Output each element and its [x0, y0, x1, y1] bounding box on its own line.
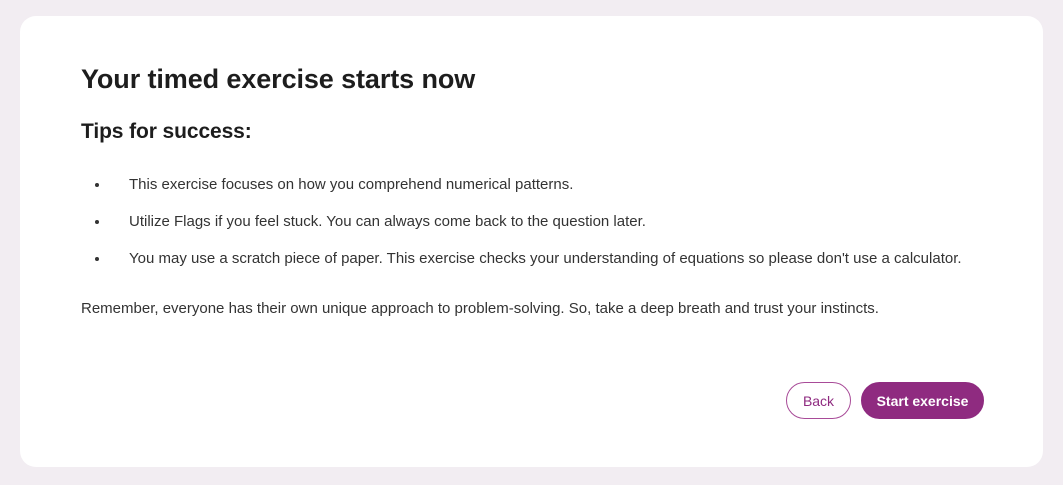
list-item-label: Utilize Flags if you feel stuck. You can… [129, 213, 646, 230]
list-item: Utilize Flags if you feel stuck. You can… [81, 211, 995, 233]
start-exercise-button[interactable]: Start exercise [861, 382, 984, 419]
page-title: Your timed exercise starts now [81, 62, 1003, 96]
tips-heading: Tips for success: [81, 96, 1003, 145]
back-button[interactable]: Back [786, 382, 851, 419]
card-actions: Back Start exercise [786, 382, 984, 419]
list-item-label: This exercise focuses on how you compreh… [129, 176, 573, 193]
card-content: Your timed exercise starts now Tips for … [81, 62, 1003, 320]
list-item: You may use a scratch piece of paper. Th… [81, 248, 995, 270]
list-item-label: You may use a scratch piece of paper. Th… [129, 250, 962, 267]
closing-paragraph: Remember, everyone has their own unique … [81, 270, 1003, 320]
exercise-intro-card: Your timed exercise starts now Tips for … [20, 16, 1043, 467]
bullet-icon [95, 183, 99, 187]
bullet-icon [95, 220, 99, 224]
bullet-icon [95, 257, 99, 261]
tips-list: This exercise focuses on how you compreh… [81, 145, 1003, 270]
list-item: This exercise focuses on how you compreh… [81, 174, 995, 196]
page-root: Your timed exercise starts now Tips for … [0, 0, 1063, 485]
